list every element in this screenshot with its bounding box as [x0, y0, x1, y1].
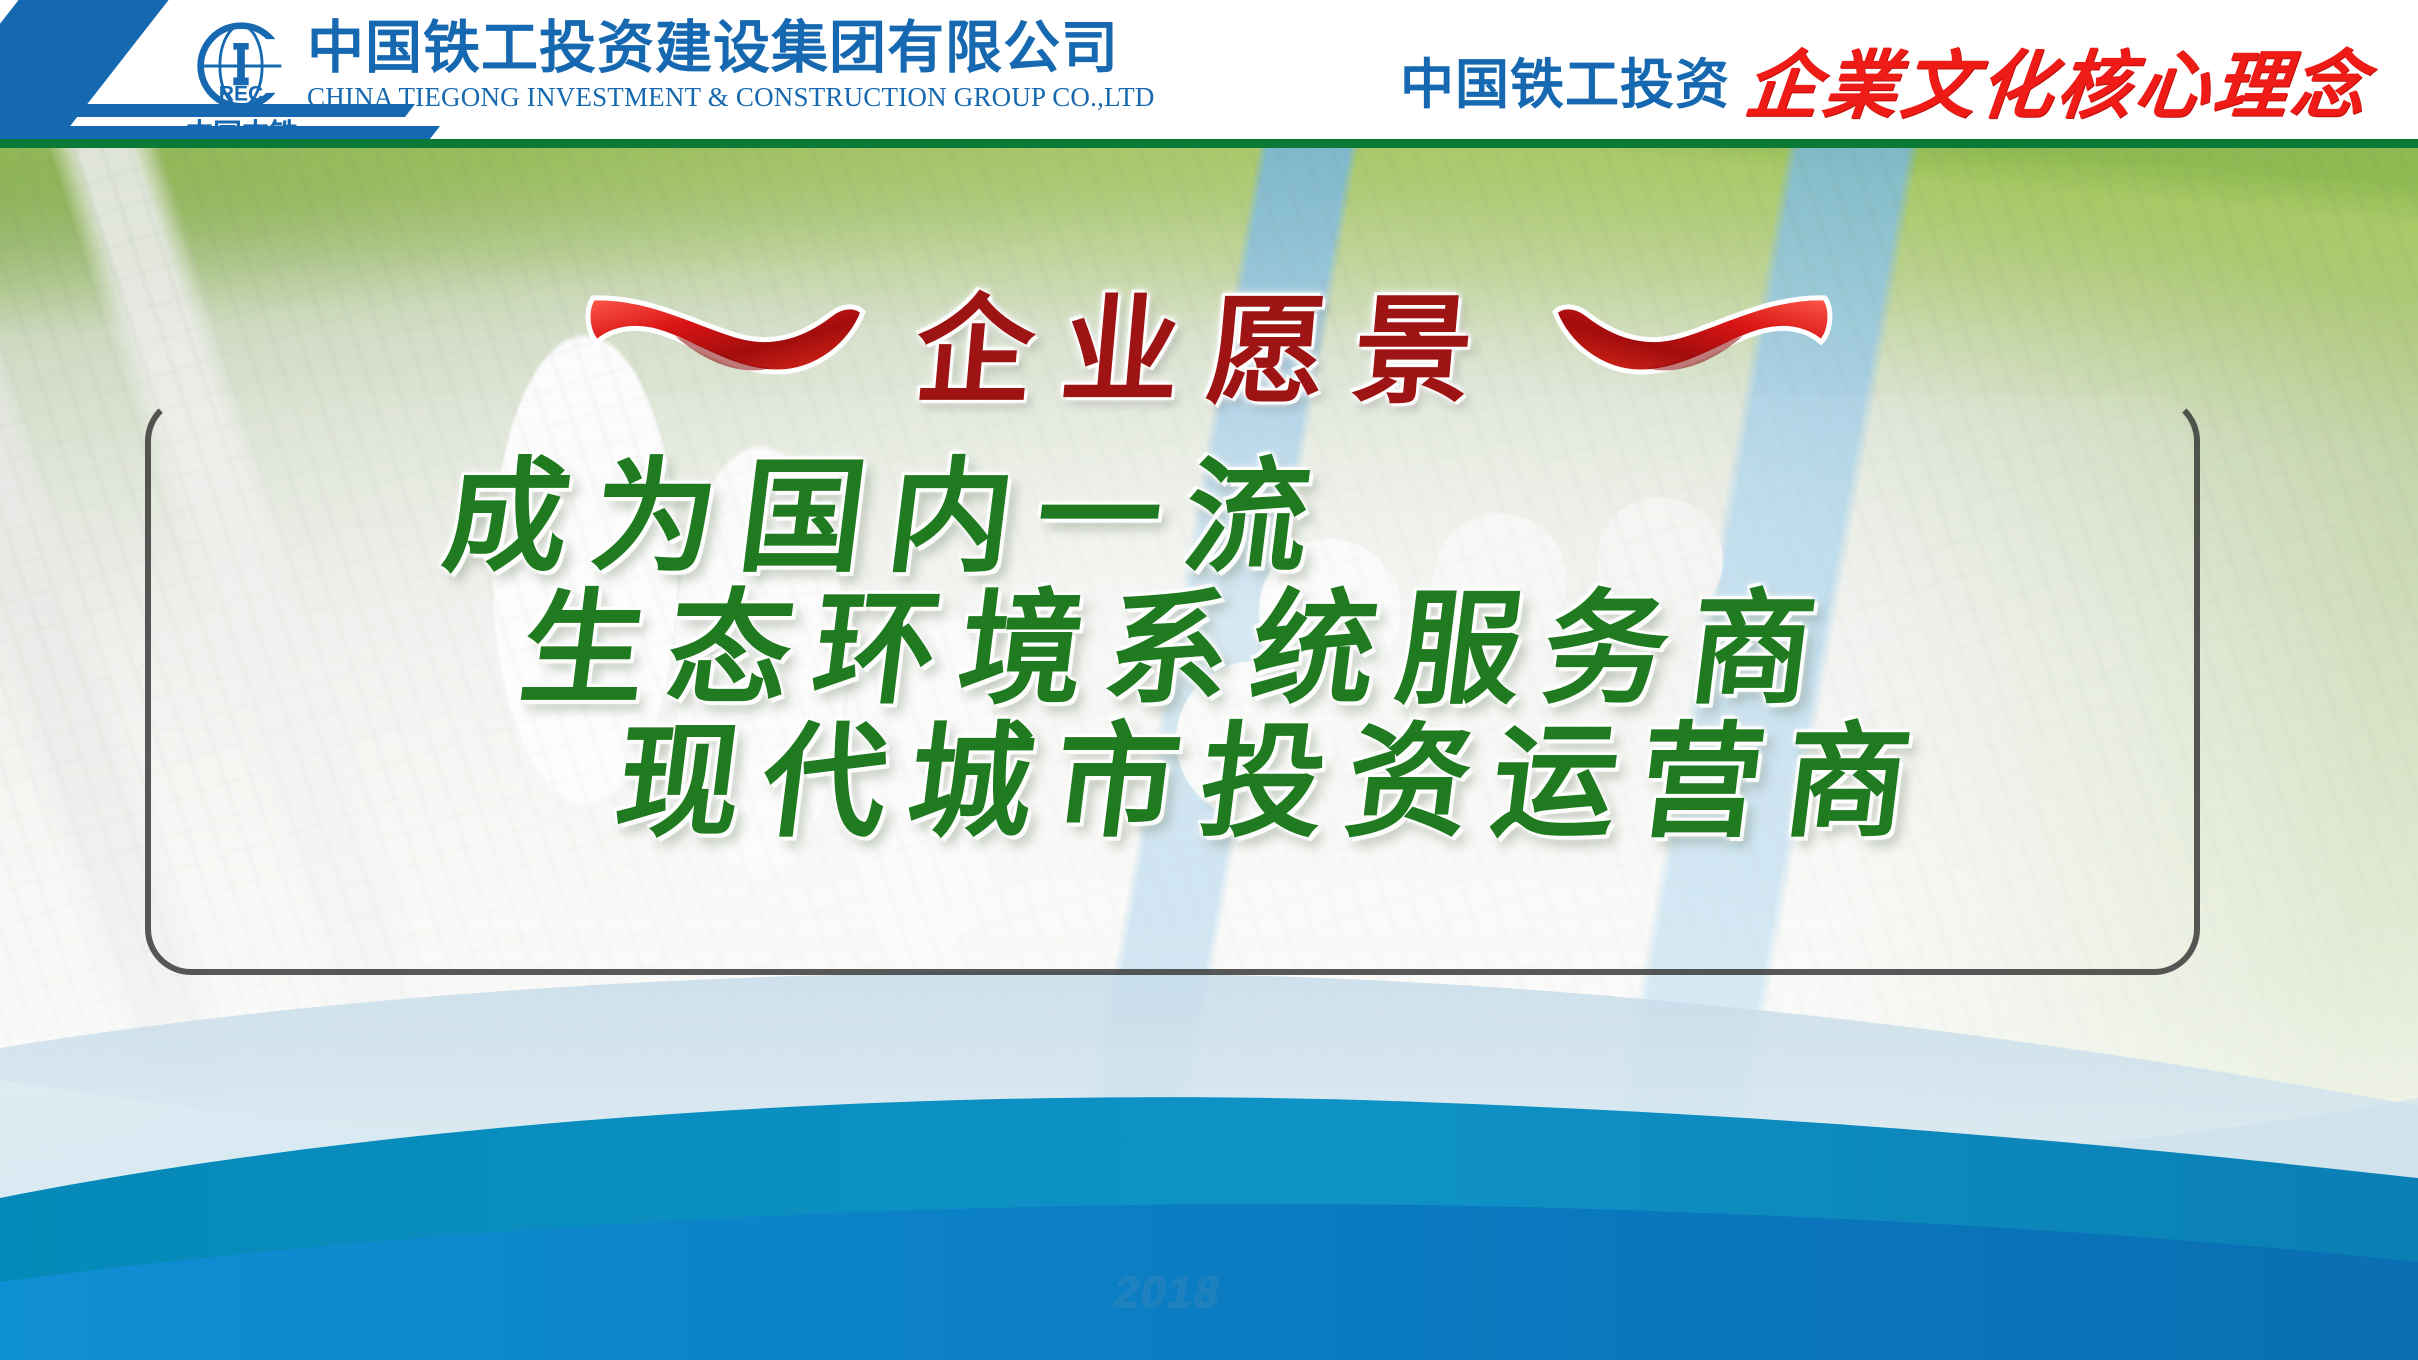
company-name-wrap: 中国铁工投资建设集团有限公司 CHINA TIEGONG INVESTMENT … — [307, 18, 1155, 113]
header-right-prefix: 中国铁工投资 — [1400, 40, 1730, 119]
svg-text:REC: REC — [219, 83, 264, 106]
poster-root: 2018 企业愿景 — [0, 0, 2418, 1360]
crec-globe-rail-logo-icon: REC — [193, 18, 289, 119]
header-right-headline: 企業文化核心理念 — [1740, 26, 2375, 133]
company-name-en: CHINA TIEGONG INVESTMENT & CONSTRUCTION … — [307, 82, 1155, 113]
red-ribbon-right-icon — [1539, 280, 1839, 400]
header-green-divider — [0, 139, 2418, 148]
slogan-line-1: 成为国内一流 — [437, 455, 1341, 581]
section-title-row: 企业愿景 — [0, 250, 2418, 430]
page-title: 企业愿景 — [910, 255, 1509, 426]
red-ribbon-left-icon — [579, 280, 879, 400]
logo-mark-wrap: REC 中国中铁 — [185, 18, 297, 148]
company-name-cn: 中国铁工投资建设集团有限公司 — [307, 18, 1155, 80]
slogan-line-2: 生态环境系统服务商 — [514, 587, 1844, 713]
vision-slogan-block: 成为国内一流 生态环境系统服务商 现代城市投资运营商 — [0, 455, 2418, 846]
company-logo-block: REC 中国中铁 中国铁工投资建设集团有限公司 CHINA TIEGONG IN… — [185, 18, 1155, 148]
wave-decoration — [0, 930, 2418, 1360]
poster-header: REC 中国中铁 中国铁工投资建设集团有限公司 CHINA TIEGONG IN… — [0, 0, 2418, 148]
header-right-title: 中国铁工投资 企業文化核心理念 — [1400, 26, 2370, 133]
slogan-line-3: 现代城市投资运营商 — [609, 720, 1939, 846]
